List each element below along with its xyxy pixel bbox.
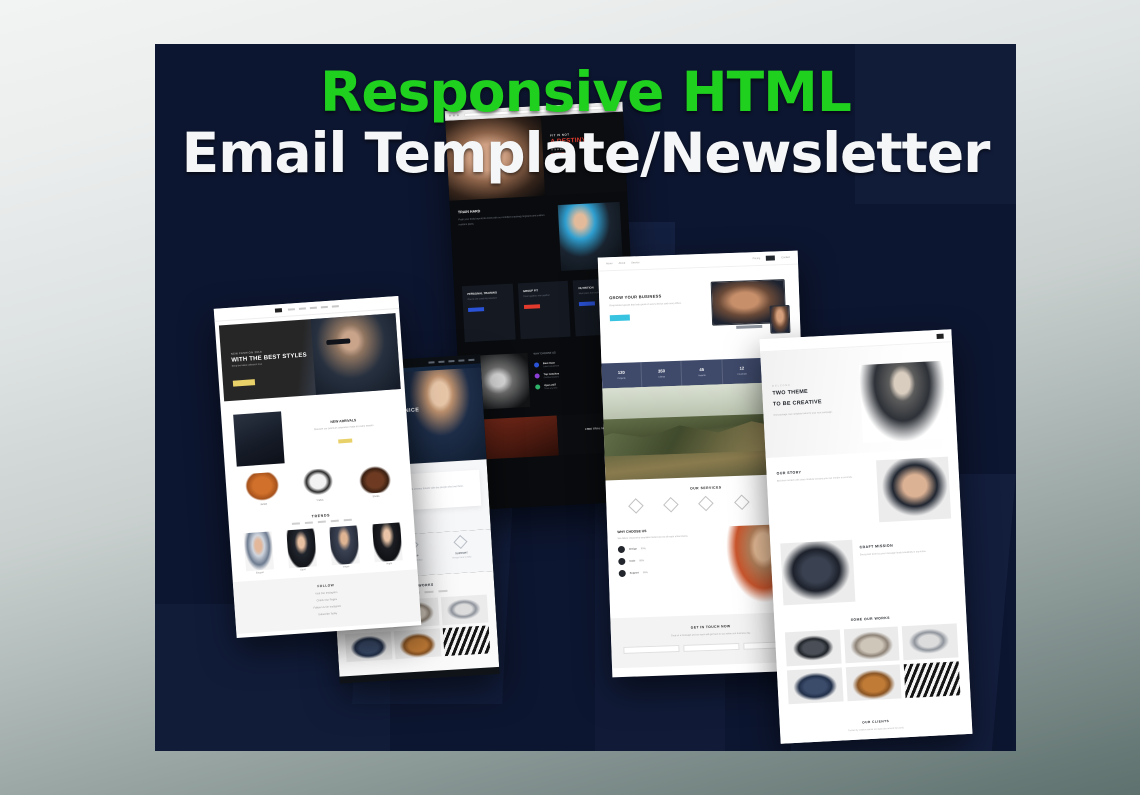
- skill-pct: 90%: [641, 547, 646, 550]
- input-email[interactable]: [683, 643, 739, 652]
- nav-item-contact[interactable]: Contact: [781, 256, 790, 259]
- skill-label: Support: [630, 572, 639, 575]
- lookbook-name: Vogue: [332, 565, 360, 569]
- monitor-stand-icon: [736, 325, 762, 329]
- stat-value: 45: [682, 366, 721, 372]
- fashion-nav: [287, 305, 338, 311]
- service-item: SUPPORT Always here to help: [444, 536, 479, 562]
- fitness-card-button[interactable]: [579, 301, 595, 306]
- nav-item-home[interactable]: Home: [606, 262, 613, 265]
- creative2-block-story: OUR STORY Built from scratch with clean …: [766, 448, 962, 536]
- creative2-title-1: TWO THEME: [772, 386, 854, 398]
- nav-item-pricing[interactable]: Pricing: [753, 257, 761, 260]
- product-card[interactable]: T-Shirt: [301, 468, 337, 503]
- tab-photo[interactable]: [438, 590, 447, 593]
- stat-label: Projects: [602, 377, 641, 380]
- tablet-icon: [770, 305, 791, 334]
- product-name: Shoes: [359, 494, 393, 499]
- lookbook-card[interactable]: Vogue: [329, 525, 360, 569]
- stat-value: 120: [602, 369, 641, 375]
- lookbook-card[interactable]: Elegant: [243, 531, 274, 575]
- progress-circle-icon: [618, 546, 625, 553]
- fashion-feature-button[interactable]: [338, 439, 352, 444]
- product-image-tshirt: [301, 468, 337, 498]
- hero-stage: Responsive HTML Email Template/Newslette…: [155, 44, 1016, 751]
- skill-pct: 85%: [639, 560, 644, 563]
- product-image-jacket: [244, 472, 280, 502]
- work-thumb-bag[interactable]: [843, 626, 899, 663]
- nav-item-service[interactable]: Service: [631, 261, 639, 264]
- fitness-card-title: GROUP FIT: [523, 287, 564, 293]
- nav-item[interactable]: [458, 359, 464, 361]
- agency-hero-text: Responsive layouts that look great on ev…: [609, 301, 697, 309]
- progress-circle-icon: [619, 570, 626, 577]
- block-image-cap: [780, 540, 855, 606]
- lookbook-image-vogue: [329, 525, 360, 565]
- mockup-two-theme-creative: WELCOME TWO THEME TO BE CREATIVE One pac…: [760, 329, 973, 743]
- title-line-1: Responsive HTML: [155, 64, 1016, 122]
- feature-text: Certified experts: [544, 376, 560, 379]
- fitness-card-title: PERSONAL TRAINING: [467, 290, 508, 296]
- product-card[interactable]: Shoes: [357, 464, 393, 499]
- nav-item[interactable]: [428, 361, 434, 363]
- creative2-hero: WELCOME TWO THEME TO BE CREATIVE One pac…: [760, 342, 957, 458]
- creative2-text: One package, two complete looks for your…: [773, 409, 855, 418]
- nav-item[interactable]: [320, 306, 327, 308]
- stat-label: Countries: [722, 373, 761, 376]
- creative2-works-grid: [775, 616, 971, 715]
- skill-pct: 95%: [643, 571, 648, 574]
- agency-hero-button[interactable]: [610, 314, 630, 321]
- title-line-2: Email Template/Newsletter: [155, 122, 1016, 185]
- fitness-intro-text: TRAIN HARD Push your body beyond its lim…: [458, 206, 553, 277]
- diamond-icon: [734, 494, 750, 510]
- work-thumb-keys[interactable]: [902, 623, 958, 660]
- nav-item[interactable]: [309, 307, 316, 309]
- stat-item: 45 Awards: [682, 359, 723, 385]
- lookbook-name: Night: [375, 562, 403, 566]
- agency-hero-title: GROW YOUR BUSINESS: [609, 292, 697, 300]
- brand-logo-icon: [274, 308, 281, 312]
- stat-item: 350 Clients: [642, 361, 683, 387]
- fashion-feature: NEW ARRIVALS Discover our premium outerw…: [220, 393, 409, 474]
- hamburger-icon[interactable]: [936, 333, 943, 338]
- product-name: T-Shirt: [303, 498, 337, 503]
- nav-item[interactable]: [287, 308, 294, 310]
- diamond-icon: [628, 498, 644, 514]
- feature-text: Latest equipment: [543, 365, 559, 368]
- lookbook-image-night: [373, 522, 404, 562]
- fashion-hero: NEW FASHION 2019 WITH THE BEST STYLES Sh…: [219, 313, 401, 401]
- fitness-intro-title: TRAIN HARD: [458, 206, 550, 215]
- creative2-title-2: TO BE CREATIVE: [773, 397, 855, 409]
- fitness-card[interactable]: PERSONAL TRAINING One to one coaching se…: [462, 284, 516, 343]
- agency-device-mockup: [703, 279, 791, 344]
- lookbook-card[interactable]: Sport: [286, 528, 317, 572]
- fashion-hero-button[interactable]: [233, 379, 255, 387]
- stat-item: 12 Countries: [722, 358, 763, 384]
- stat-value: 12: [722, 365, 761, 371]
- brand-logo-icon: [766, 255, 775, 260]
- skill-row: Code 85%: [618, 555, 720, 566]
- skill-row: Design 90%: [618, 543, 720, 554]
- work-thumb-shirt[interactable]: [787, 667, 843, 704]
- service-text: Always here to help: [445, 556, 479, 562]
- nav-item[interactable]: [448, 359, 454, 361]
- stat-item: 120 Projects: [601, 362, 642, 388]
- fitness-card-text: Train together, win together: [523, 294, 564, 300]
- skill-label: Code: [629, 560, 635, 563]
- bullet-icon: [535, 373, 540, 378]
- creative2-hero-photo: [859, 361, 947, 443]
- mockup-fashion-email: NEW FASHION 2019 WITH THE BEST STYLES Sh…: [214, 296, 422, 638]
- fitness-card-button[interactable]: [524, 304, 540, 309]
- bullet-icon: [534, 362, 539, 367]
- fitness-card-text: One to one coaching sessions: [468, 297, 509, 303]
- block-title: OUR STORY: [776, 467, 869, 476]
- lookbook-name: Elegant: [246, 571, 274, 575]
- tab-all[interactable]: [291, 522, 299, 525]
- tab-kids[interactable]: [330, 520, 338, 523]
- page-title: Responsive HTML Email Template/Newslette…: [155, 64, 1016, 185]
- agency-why-title: WHY CHOOSE US: [617, 527, 719, 535]
- bullet-icon: [535, 384, 540, 389]
- feature-text: Train any time: [544, 387, 557, 390]
- tab-sale[interactable]: [343, 519, 351, 522]
- nav-item-about[interactable]: About: [619, 262, 626, 265]
- agency-why-text: We deliver responsive templates tested a…: [617, 534, 719, 542]
- work-thumb-keys[interactable]: [441, 594, 489, 625]
- lookbook-name: Sport: [289, 568, 317, 572]
- nav-item[interactable]: [331, 305, 338, 307]
- skill-label: Design: [629, 548, 637, 551]
- work-thumb-shoes[interactable]: [845, 664, 901, 701]
- block-image-hand: [876, 457, 951, 523]
- work-thumb-camera[interactable]: [785, 630, 841, 667]
- lookbook-image-sport: [286, 528, 317, 568]
- block-title: CRAFT MISSION: [859, 540, 952, 549]
- diamond-icon: [699, 496, 715, 512]
- fitness-card[interactable]: GROUP FIT Train together, win together: [517, 281, 571, 340]
- fitness-card-button[interactable]: [468, 307, 484, 312]
- fashion-feature-photo: [233, 411, 285, 466]
- creative2-block-mission: CRAFT MISSION Every pixel tuned so your …: [770, 526, 966, 614]
- stat-value: 350: [642, 368, 681, 374]
- work-thumb-poster[interactable]: [904, 661, 960, 698]
- block-text: Built from scratch with clean modular se…: [777, 475, 870, 484]
- lookbook-image-elegant: [243, 531, 274, 571]
- tab-brand[interactable]: [424, 590, 433, 593]
- product-image-shoes: [357, 464, 393, 494]
- nav-item[interactable]: [468, 358, 474, 360]
- progress-circle-icon: [618, 558, 625, 565]
- tab-men[interactable]: [304, 521, 312, 524]
- fashion-hero-photo: [311, 313, 401, 395]
- diamond-icon: [454, 535, 468, 549]
- work-thumb-poster[interactable]: [443, 625, 491, 656]
- agency-cta-text: Drop us a message and our team will get …: [623, 630, 799, 640]
- stat-label: Awards: [682, 374, 721, 377]
- tab-women[interactable]: [317, 521, 325, 524]
- skill-row: Support 95%: [619, 567, 721, 578]
- fitness-intro-body: Push your body beyond its limits with ou…: [458, 214, 550, 228]
- agency-cta-form: [623, 641, 799, 654]
- lookbook-card[interactable]: Night: [373, 522, 404, 566]
- work-thumb-shirt[interactable]: [345, 631, 393, 662]
- input-name[interactable]: [623, 645, 679, 654]
- nav-item[interactable]: [298, 307, 305, 309]
- stat-label: Clients: [642, 376, 681, 379]
- block-text: Every pixel tuned so your message lands …: [860, 548, 953, 557]
- diamond-icon: [663, 497, 679, 513]
- work-thumb-shoes[interactable]: [394, 628, 442, 659]
- nav-item[interactable]: [438, 360, 444, 362]
- product-name: Jacket: [247, 502, 281, 507]
- product-card[interactable]: Jacket: [244, 472, 280, 507]
- creative2-works: SOME OUR WORKS: [774, 604, 971, 719]
